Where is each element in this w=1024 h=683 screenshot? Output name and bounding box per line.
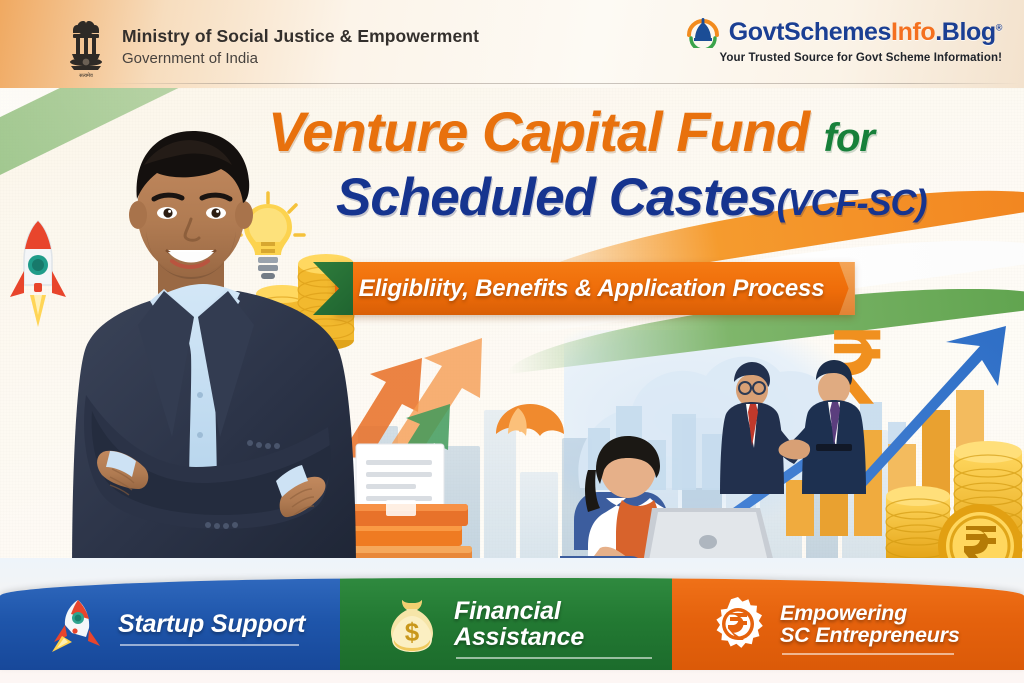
subtitle-banner: Eligibliity, Benefits & Application Proc… bbox=[313, 262, 854, 315]
poster-root: Venture Capital Fund for Scheduled Caste… bbox=[0, 0, 1024, 683]
feature-empowering-sc-entrepreneurs[interactable]: Empowering SC Entrepreneurs bbox=[672, 578, 1024, 670]
feature-financial-assistance[interactable]: $ Financial Assistance bbox=[340, 578, 672, 670]
page-header: सत्यमेव Ministry of Social Justice & Emp… bbox=[0, 0, 1024, 88]
feature-label-startup-support: Startup Support bbox=[118, 611, 305, 637]
feature-banner: Startup Support $ Financial Assistance bbox=[0, 558, 1024, 683]
ministry-subtitle: Government of India bbox=[122, 50, 479, 67]
svg-text:सत्यमेव: सत्यमेव bbox=[79, 72, 93, 79]
ministry-branding: सत्यमेव Ministry of Social Justice & Emp… bbox=[64, 14, 479, 80]
parachute-icon bbox=[490, 400, 570, 460]
brand-tagline: Your Trusted Source for Govt Scheme Info… bbox=[685, 52, 1002, 64]
subtitle-text: Eligibliity, Benefits & Application Proc… bbox=[313, 262, 854, 315]
brand-name-part2: Info bbox=[891, 18, 935, 46]
dome-building-logo-icon bbox=[685, 16, 721, 48]
headline-abbreviation: (VCF-SC) bbox=[777, 182, 927, 223]
headline-main-orange: Venture Capital Fund bbox=[268, 100, 809, 163]
brand-trademark: ® bbox=[996, 22, 1002, 32]
header-divider bbox=[110, 83, 1020, 84]
money-bag-icon: $ bbox=[384, 596, 440, 652]
ashoka-lion-capital-emblem: सत्यमेव bbox=[64, 14, 108, 80]
headline-main-navy: Scheduled Castes bbox=[336, 168, 777, 227]
hero-headline: Venture Capital Fund for Scheduled Caste… bbox=[268, 104, 998, 224]
brand-name-part3: .Blog bbox=[935, 18, 996, 46]
feature-label-financial-assistance: Financial Assistance bbox=[454, 598, 658, 650]
gear-rupee-icon bbox=[710, 596, 766, 652]
headline-line-2: Scheduled Castes(VCF-SC) bbox=[336, 171, 998, 224]
headline-for-green: for bbox=[824, 116, 874, 160]
svg-text:$: $ bbox=[405, 617, 420, 647]
feature-label-empowering-sc-entrepreneurs: Empowering SC Entrepreneurs bbox=[780, 602, 960, 647]
headline-line-1: Venture Capital Fund for bbox=[268, 104, 998, 160]
feature-startup-support[interactable]: Startup Support bbox=[0, 578, 340, 670]
ministry-title: Ministry of Social Justice & Empowerment bbox=[122, 26, 479, 46]
brand-name-part1: GovtSchemes bbox=[729, 18, 891, 46]
feature-label-line2: SC Entrepreneurs bbox=[780, 623, 960, 647]
business-illustration bbox=[560, 318, 1024, 580]
brand-wordmark: GovtSchemesInfo.Blog® bbox=[729, 20, 1002, 45]
site-branding[interactable]: GovtSchemesInfo.Blog® Your Trusted Sourc… bbox=[685, 16, 1002, 64]
rocket-icon bbox=[48, 596, 104, 652]
feature-label-line1: Empowering bbox=[780, 601, 907, 625]
